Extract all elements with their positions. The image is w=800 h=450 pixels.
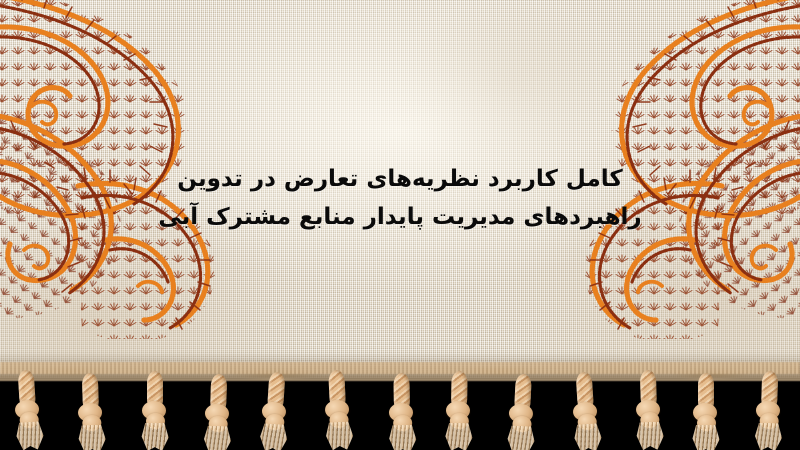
tassel (751, 370, 787, 449)
tassel-skirt (443, 423, 473, 450)
tassel (441, 371, 476, 450)
banner-title: کامل کاربرد نظریه‌های تعارض در تدوین راه… (0, 160, 800, 236)
tassel-skirt (505, 425, 536, 450)
tassel-skirt (387, 425, 417, 450)
tassel-skirt (202, 426, 233, 450)
tassel (320, 369, 358, 449)
tassel (631, 369, 667, 448)
tassel (566, 371, 605, 450)
tassel-skirt (324, 421, 355, 450)
tassel (73, 372, 109, 450)
tassel (138, 371, 172, 449)
tassel-skirt (257, 423, 289, 450)
tassel-skirt (635, 422, 666, 450)
tassel-skirt (77, 425, 108, 450)
tassel (384, 373, 419, 450)
tassel-skirt (140, 423, 170, 450)
tassel (200, 373, 236, 450)
tassel-skirt (571, 423, 603, 450)
tassel (256, 371, 295, 450)
tassel (8, 369, 47, 449)
tassel (503, 373, 541, 450)
title-line-1: کامل کاربرد نظریه‌های تعارض در تدوین (0, 160, 800, 198)
banner-image: کامل کاربرد نظریه‌های تعارض در تدوین راه… (0, 0, 800, 450)
tassel-skirt (14, 421, 46, 450)
tassel-skirt (753, 423, 784, 450)
title-line-2: راهبردهای مدیریت پایدار منابع مشترک آبی (0, 198, 800, 236)
tassel (689, 373, 723, 450)
tassel-skirt (691, 425, 721, 450)
knotted-tassel-fringe (0, 370, 800, 450)
